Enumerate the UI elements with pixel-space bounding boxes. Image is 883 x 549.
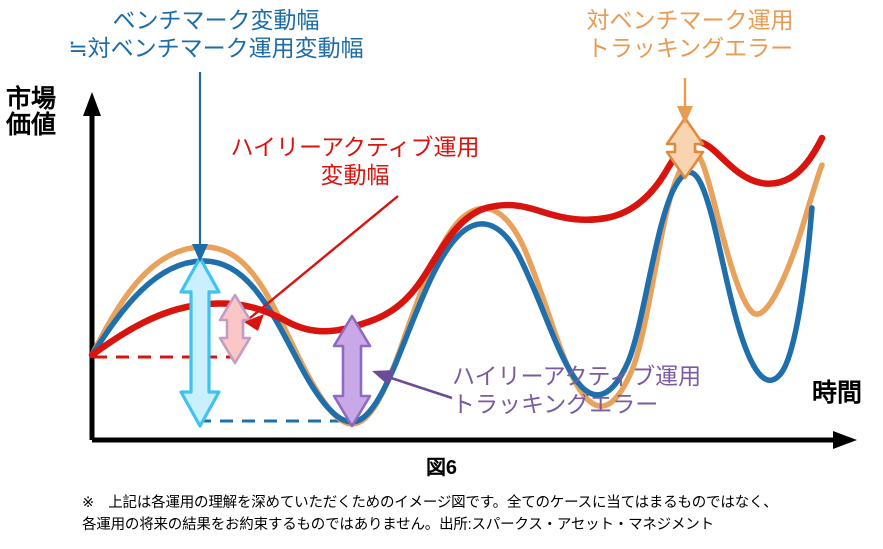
footnote-line-1: ※ 上記は各運用の理解を深めていただくためのイメージ図です。全てのケースに当ては… xyxy=(82,492,872,514)
benchmark-range-label: ベンチマーク変動幅 ≒対ベンチマーク運用変動幅 xyxy=(16,6,416,62)
footnote: ※ 上記は各運用の理解を深めていただくためのイメージ図です。全てのケースに当ては… xyxy=(82,492,872,537)
benchmark-tracking-error-arrow xyxy=(667,118,703,178)
highly-active-tracking-error-label: ハイリーアクティブ運用 トラッキングエラー xyxy=(452,362,792,418)
highly-active-tracking-error-leader xyxy=(382,375,452,398)
x-axis-label: 時間 xyxy=(812,380,882,406)
benchmark-tracking-error-label: 対ベンチマーク運用 トラッキングエラー xyxy=(540,6,840,62)
highly-active-range-leader xyxy=(250,196,398,318)
y-axis-label: 市場 価値 xyxy=(6,86,76,139)
x-axis xyxy=(92,431,857,449)
highly-active-range-label: ハイリーアクティブ運用 変動幅 xyxy=(205,133,505,189)
y-axis xyxy=(83,92,101,440)
benchmark-tracking-error-leader-head xyxy=(677,106,693,124)
footnote-line-2: 各運用の将来の結果をお約束するものではありません。出所:スパークス・アセット・マ… xyxy=(82,514,872,536)
figure-caption: 図6 xyxy=(0,456,883,480)
highly-active-tracking-error-leader-head xyxy=(372,370,394,385)
figure-canvas: ベンチマーク変動幅 ≒対ベンチマーク運用変動幅 対ベンチマーク運用 トラッキング… xyxy=(0,0,883,549)
benchmark-range-arrow xyxy=(181,258,219,426)
